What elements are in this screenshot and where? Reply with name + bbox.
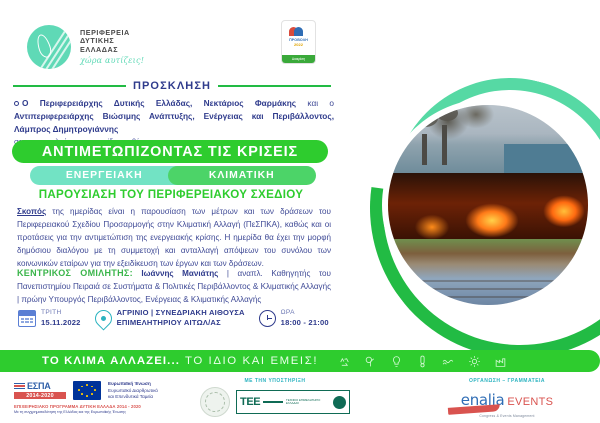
photo-wildfire xyxy=(388,173,588,239)
espa-word: ΕΣΠΑ xyxy=(27,381,51,391)
tee-subtitle: ΤΕΧΝΙΚΟ ΕΠΙΜΕΛΗΤΗΡΙΟ ΕΛΛΑΔΑΣ xyxy=(286,399,330,406)
invitation-line-1: Ο Περιφερειάρχης Δυτικής Ελλάδας, Νεκτάρ… xyxy=(22,98,296,108)
slogan-light: ΤΟ ΙΔΙΟ ΚΑΙ ΕΜΕΙΣ! xyxy=(185,355,318,367)
invitation-heading: ΠΡΟΣΚΛΗΣΗ xyxy=(13,80,331,92)
factory-icon xyxy=(494,355,507,368)
espa-caption-line-1: ΕΠΙΧΕΙΡΗΣΙΑΚΟ ΠΡΟΓΡΑΜΜΑ ΔΥΤΙΚΗ ΕΛΛΑΔΑ 20… xyxy=(14,404,186,409)
date-label: ΤΡΙΤΗ xyxy=(41,309,81,318)
location-pin-icon xyxy=(91,306,115,330)
region-slogan: χώρα αυτίζεις! xyxy=(80,56,144,65)
venue-label: ΑΓΡΙΝΙΟ | ΣΥΝΕΔΡΙΑΚΗ ΑΙΘΟΥΣΑ xyxy=(117,308,245,318)
eu-line-3: και Επενδυτικά Ταμεία xyxy=(108,394,158,401)
espa-block: ΕΣΠΑ 2014-2020 Ευρωπαϊκή Ένωση Ευρωπαϊκό… xyxy=(14,381,158,401)
badge-year: 2022 xyxy=(294,42,303,47)
rule-left xyxy=(13,85,126,86)
detail-date: ΤΡΙΤΗ 15.11.2022 xyxy=(18,309,81,328)
poster: ΠΕΡΙΦΕΡΕΙΑ ΔΥΤΙΚΗΣ ΕΛΛΑΔΑΣ χώρα αυτίζεις… xyxy=(0,0,600,423)
clock-icon xyxy=(259,310,276,327)
badge-footer: Διακρίση xyxy=(282,55,315,63)
espa-years: 2014-2020 xyxy=(14,392,66,399)
support-block: ΜΕ ΤΗΝ ΥΠΟΣΤΗΡΙΞΗ TEE ΤΕΧΝΙΚΟ ΕΠΙΜΕΛΗΤΗΡ… xyxy=(200,378,350,417)
bullet-icon xyxy=(14,101,19,106)
espa-caption-line-2: Με τη συγχρηματοδότηση της Ελλάδας και τ… xyxy=(14,410,186,414)
award-badge: ΠΡΟΒΟΛΗ 2022 Διακρίση xyxy=(281,20,316,64)
tee-mark: TEE xyxy=(240,396,260,408)
speaker-name: Ιωάννης Μανιάτης xyxy=(141,269,218,278)
tee-logo: TEE ΤΕΧΝΙΚΟ ΕΠΙΜΕΛΗΤΗΡΙΟ ΕΛΛΑΔΑΣ xyxy=(236,390,350,414)
slogan-bold: ΤΟ ΚΛΙΜΑ ΑΛΛΑΖΕΙ... xyxy=(42,355,180,367)
tree-icon xyxy=(364,355,377,368)
wheat-leaf-logo-icon xyxy=(27,25,71,69)
thermometer-icon xyxy=(416,355,429,368)
slogan-bar: ΤΟ ΚΛΙΜΑ ΑΛΛΑΖΕΙ... ΤΟ ΙΔΙΟ ΚΑΙ ΕΜΕΙΣ! xyxy=(0,350,600,372)
pill-energy: ΕΝΕΡΓΕΙΑΚΗ xyxy=(30,166,179,185)
photo-flooded-field xyxy=(388,239,588,305)
region-logo: ΠΕΡΙΦΕΡΕΙΑ ΔΥΤΙΚΗΣ ΕΛΛΑΔΑΣ χώρα αυτίζεις… xyxy=(27,25,144,69)
rule-right xyxy=(218,85,331,86)
body-lead: Σκοπός xyxy=(17,207,46,216)
time-value: 18:00 - 21:00 xyxy=(281,318,329,328)
speaker-label: ΚΕΝΤΡΙΚΟΣ ΟΜΙΛΗΤΗΣ: xyxy=(17,268,133,278)
detail-venue: ΑΓΡΙΝΙΟ | ΣΥΝΕΔΡΙΑΚΗ ΑΙΘΟΥΣΑ ΕΠΙΜΕΛΗΤΗΡΙ… xyxy=(95,308,245,329)
organiser-label: ΟΡΓΑΝΩΣΗ – ΓΡΑΜΜΑΤΕΙΑ xyxy=(432,378,582,384)
invitation-conjunction: και ο xyxy=(296,98,334,108)
invitation-label: ΠΡΟΣΚΛΗΣΗ xyxy=(133,80,211,92)
sun-icon xyxy=(468,355,481,368)
tee-globe-icon xyxy=(333,396,346,409)
tee-rule xyxy=(263,401,283,402)
event-details: ΤΡΙΤΗ 15.11.2022 ΑΓΡΙΝΙΟ | ΣΥΝΕΔΡΙΑΚΗ ΑΙ… xyxy=(18,308,348,329)
calendar-icon xyxy=(18,310,36,327)
enalia-tagline: Congress & Events Management xyxy=(432,414,582,418)
enalia-events: EVENTS xyxy=(507,396,553,408)
badge-arcs-icon xyxy=(289,25,308,36)
title-main: ΑΝΤΙΜΕΤΩΠΙΖΟΝΤΑΣ ΤΙΣ ΚΡΙΣΕΙΣ xyxy=(42,144,298,160)
photo-montage xyxy=(388,105,588,305)
invitation-line-2: Αντιπεριφερειάρχης Βιώσιμης Ανάπτυξης, Ε… xyxy=(14,111,334,134)
enalia-logo: enalia EVENTS xyxy=(432,391,582,409)
date-value: 15.11.2022 xyxy=(41,318,81,328)
title-pills: ΕΝΕΡΓΕΙΑΚΗ ΚΛΙΜΑΤΙΚΗ xyxy=(30,166,316,185)
support-label: ΜΕ ΤΗΝ ΥΠΟΣΤΗΡΙΞΗ xyxy=(200,378,350,384)
title-banner: ΑΝΤΙΜΕΤΩΠΙΖΟΝΤΑΣ ΤΙΣ ΚΡΙΣΕΙΣ xyxy=(12,140,328,163)
seal-logo-icon xyxy=(200,387,230,417)
photo-industrial-smokestacks xyxy=(388,105,588,173)
body-rest: της ημερίδας είναι η παρουσίαση των μέτρ… xyxy=(17,207,331,268)
speaker-paragraph: ΚΕΝΤΡΙΚΟΣ ΟΜΙΛΗΤΗΣ: Ιωάννης Μανιάτης | α… xyxy=(17,266,331,307)
body-paragraph: Σκοπός της ημερίδας είναι η παρουσίαση τ… xyxy=(17,205,331,271)
espa-logo: ΕΣΠΑ 2014-2020 xyxy=(14,381,66,399)
lightbulb-icon xyxy=(390,355,403,368)
espa-bars-icon xyxy=(14,383,25,390)
slogan-icon-row xyxy=(338,355,507,368)
region-line-3: ΕΛΛΑΔΑΣ xyxy=(80,46,144,54)
pill-climate: ΚΛΙΜΑΤΙΚΗ xyxy=(168,166,317,185)
eu-line-1: Ευρωπαϊκή Ένωση xyxy=(108,381,151,386)
wave-icon xyxy=(442,355,455,368)
organiser-block: ΟΡΓΑΝΩΣΗ – ΓΡΑΜΜΑΤΕΙΑ enalia EVENTS Cong… xyxy=(432,378,582,418)
detail-time: ΩΡΑ 18:00 - 21:00 xyxy=(259,309,329,328)
time-label: ΩΡΑ xyxy=(281,309,329,318)
venue-value: ΕΠΙΜΕΛΗΤΗΡΙΟΥ ΑΙΤΩΛ/ΑΣ xyxy=(117,318,245,328)
eu-flag-icon xyxy=(73,381,101,400)
title-subtitle: ΠΑΡΟΥΣΙΑΣΗ ΤΟΥ ΠΕΡΙΦΕΡΕΙΑΚΟΥ ΣΧΕΔΙΟΥ xyxy=(12,188,330,201)
recycle-icon xyxy=(338,355,351,368)
espa-caption: ΕΠΙΧΕΙΡΗΣΙΑΚΟ ΠΡΟΓΡΑΜΜΑ ΔΥΤΙΚΗ ΕΛΛΑΔΑ 20… xyxy=(14,404,186,414)
